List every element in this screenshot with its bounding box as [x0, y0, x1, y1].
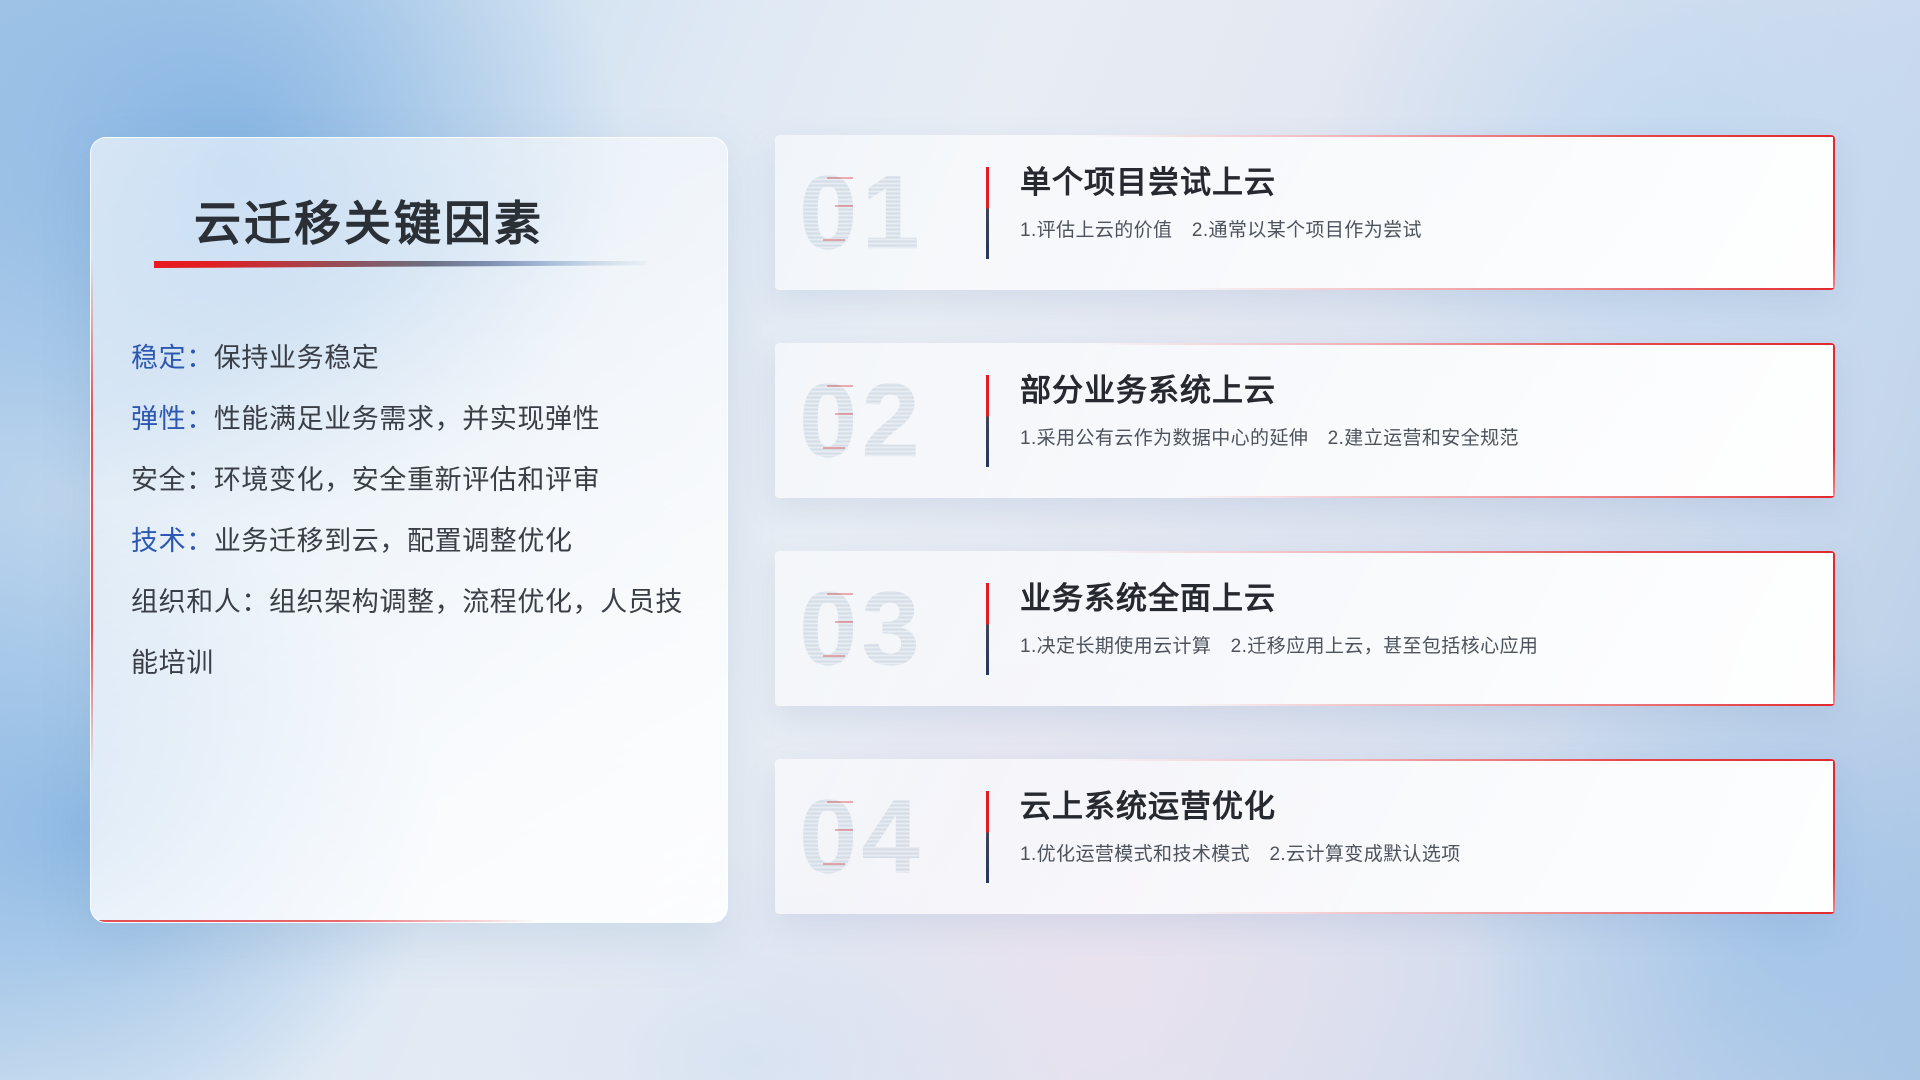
stage-number-tick-icon: [835, 413, 853, 415]
list-item-label: 技术：: [131, 526, 214, 556]
stage-divider-bar: [986, 167, 989, 259]
stage-number-tick-icon: [823, 239, 845, 241]
card-bottom-accent: [1178, 288, 1835, 290]
stage-number-tick-icon: [827, 385, 853, 387]
card-top-accent: [775, 551, 1835, 553]
card-right-accent: [1833, 135, 1835, 290]
card-top-accent: [775, 343, 1835, 345]
migration-stages-list: 01 01 单个项目尝试上云 1.评估上云的价值 2.通常以某个项目作为尝试 0…: [775, 135, 1835, 967]
stage-number-tick-icon: [827, 177, 853, 179]
stage-card[interactable]: 03 03 业务系统全面上云 1.决定长期使用云计算 2.迁移应用上云，甚至包括…: [775, 551, 1835, 706]
list-item: 弹性：性能满足业务需求，并实现弹性: [131, 389, 701, 450]
list-item-label: 弹性：: [131, 404, 214, 434]
stage-body: 云上系统运营优化 1.优化运营模式和技术模式 2.云计算变成默认选项: [1020, 785, 1809, 869]
stage-title: 业务系统全面上云: [1020, 577, 1809, 621]
list-item-text: 保持业务稳定: [214, 343, 380, 373]
card-top-accent: [775, 759, 1835, 761]
stage-number-tick-icon: [835, 829, 853, 831]
stage-body: 部分业务系统上云 1.采用公有云作为数据中心的延伸 2.建立运营和安全规范: [1020, 369, 1809, 453]
list-item: 组织和人：组织架构调整，流程优化，人员技能培训: [131, 572, 701, 694]
panel-title: 云迁移关键因素: [194, 185, 544, 254]
stage-card[interactable]: 01 01 单个项目尝试上云 1.评估上云的价值 2.通常以某个项目作为尝试: [775, 135, 1835, 290]
card-top-accent: [775, 135, 1835, 137]
card-bottom-accent: [1178, 912, 1835, 914]
list-item-text: 环境变化，安全重新评估和评审: [214, 465, 600, 495]
stage-number-tick-icon: [835, 621, 853, 623]
stage-number-watermark: 01: [799, 160, 924, 265]
stage-divider-bar: [986, 583, 989, 675]
list-item-label: 稳定：: [131, 343, 214, 373]
stage-number-tick-icon: [823, 655, 845, 657]
key-factors-list: 稳定：保持业务稳定 弹性：性能满足业务需求，并实现弹性 安全：环境变化，安全重新…: [131, 328, 701, 694]
stage-title: 部分业务系统上云: [1020, 369, 1809, 413]
panel-bottom-accent: [91, 920, 537, 922]
stage-number-tick-icon: [823, 863, 845, 865]
panel-title-underline: [154, 261, 647, 268]
list-item: 技术：业务迁移到云，配置调整优化: [131, 511, 701, 572]
key-factors-panel: 云迁移关键因素 稳定：保持业务稳定 弹性：性能满足业务需求，并实现弹性 安全：环…: [90, 137, 728, 923]
list-item: 安全：环境变化，安全重新评估和评审: [131, 450, 701, 511]
stage-number-watermark: 04: [799, 784, 924, 889]
list-item-text: 性能满足业务需求，并实现弹性: [214, 404, 600, 434]
stage-divider-bar: [986, 375, 989, 467]
stage-number-tick-icon: [823, 447, 845, 449]
stage-number-tick-icon: [827, 801, 853, 803]
stage-subtitle: 1.决定长期使用云计算 2.迁移应用上云，甚至包括核心应用: [1020, 633, 1809, 661]
panel-left-accent: [91, 258, 93, 772]
stage-title: 单个项目尝试上云: [1020, 161, 1809, 205]
card-right-accent: [1833, 759, 1835, 914]
list-item-label: 组织和人：: [131, 587, 269, 617]
stage-subtitle: 1.采用公有云作为数据中心的延伸 2.建立运营和安全规范: [1020, 425, 1809, 453]
stage-divider-bar: [986, 791, 989, 883]
stage-card[interactable]: 02 02 部分业务系统上云 1.采用公有云作为数据中心的延伸 2.建立运营和安…: [775, 343, 1835, 498]
card-right-accent: [1833, 343, 1835, 498]
stage-body: 单个项目尝试上云 1.评估上云的价值 2.通常以某个项目作为尝试: [1020, 161, 1809, 245]
list-item-label: 安全：: [131, 465, 214, 495]
card-right-accent: [1833, 551, 1835, 706]
list-item: 稳定：保持业务稳定: [131, 328, 701, 389]
stage-body: 业务系统全面上云 1.决定长期使用云计算 2.迁移应用上云，甚至包括核心应用: [1020, 577, 1809, 661]
stage-number-tick-icon: [827, 593, 853, 595]
card-bottom-accent: [1178, 704, 1835, 706]
stage-number-tick-icon: [835, 205, 853, 207]
stage-subtitle: 1.优化运营模式和技术模式 2.云计算变成默认选项: [1020, 841, 1809, 869]
stage-subtitle: 1.评估上云的价值 2.通常以某个项目作为尝试: [1020, 217, 1809, 245]
slide-canvas: 云迁移关键因素 稳定：保持业务稳定 弹性：性能满足业务需求，并实现弹性 安全：环…: [0, 0, 1920, 1080]
stage-number-watermark: 02: [799, 368, 924, 473]
stage-card[interactable]: 04 04 云上系统运营优化 1.优化运营模式和技术模式 2.云计算变成默认选项: [775, 759, 1835, 914]
stage-number-watermark: 03: [799, 576, 924, 681]
card-bottom-accent: [1178, 496, 1835, 498]
list-item-text: 业务迁移到云，配置调整优化: [214, 526, 573, 556]
stage-title: 云上系统运营优化: [1020, 785, 1809, 829]
